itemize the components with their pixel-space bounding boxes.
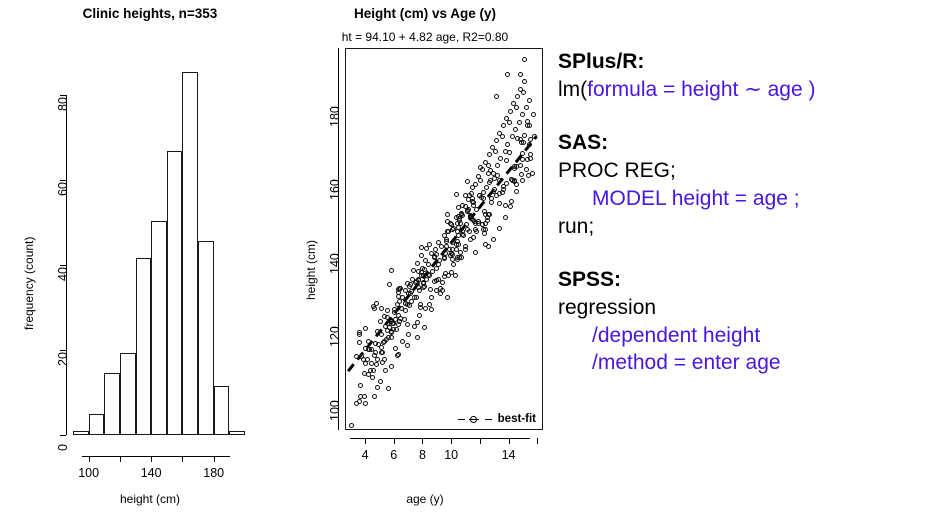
code-keyword-text: /dependent height [592,324,760,347]
histogram-y-tick [60,95,66,96]
scatter-title: Height (cm) vs Age (y) [290,6,560,21]
scatter-point [489,196,494,201]
scatter-x-tick-label: 4 [351,448,379,462]
scatter-point [415,261,420,266]
scatter-point [500,134,505,139]
scatter-x-tick [480,438,481,444]
scatter-point [493,149,498,154]
scatter-point [423,306,428,311]
scatter-point [494,138,499,143]
scatter-y-tick-label: 160 [328,179,342,200]
scatter-point [371,368,376,373]
best-fit-legend-label: best-fit [498,413,536,425]
scatter-point [419,253,424,258]
histogram-x-tick [151,456,152,462]
scatter-y-tick-label: 120 [328,326,342,347]
scatter-point [527,98,532,103]
scatter-point [508,109,513,114]
scatter-point [445,295,450,300]
scatter-point [504,181,509,186]
scatter-x-tick [394,438,395,444]
scatter-point [439,244,444,249]
code-line: MODEL height = age ; [558,185,939,213]
histogram-x-tick [214,456,215,462]
scatter-point [525,157,530,162]
scatter-point [429,295,434,300]
scatter-point [512,166,517,171]
scatter-point [349,423,354,428]
scatter-panel: Height (cm) vs Age (y) ht = 94.10 + 4.82… [290,0,560,520]
scatter-point [520,112,525,117]
scatter-point [372,394,377,399]
histogram-bar [104,373,120,435]
scatter-x-tick [365,438,366,444]
scatter-point [524,105,529,110]
scatter-point [422,267,427,272]
scatter-point [487,180,492,185]
histogram-x-axis-label: height (cm) [0,492,300,506]
scatter-point [510,134,515,139]
scatter-point [497,201,502,206]
scatter-point [528,137,533,142]
scatter-point [414,295,419,300]
histogram-y-tick-label: 20 [56,352,70,366]
scatter-point [508,204,513,209]
scatter-point [406,332,411,337]
code-plain-text: PROC REG; [558,159,676,182]
scatter-point [514,189,519,194]
scatter-point [463,244,468,249]
scatter-x-axis-line [350,438,530,439]
scatter-point [442,255,447,260]
scatter-point [363,361,368,366]
histogram-x-tick [120,456,121,462]
scatter-point [520,178,525,183]
code-plain-text: lm( [558,78,587,101]
scatter-point [514,182,519,187]
scatter-point [366,339,371,344]
scatter-point [363,346,368,351]
code-keyword-text: formula = height ∼ age ) [587,78,815,101]
histogram-bar [198,241,214,435]
scatter-x-tick [422,438,423,444]
scatter-point [374,301,379,306]
code-plain-text: regression [558,296,656,319]
histogram-bar [167,151,183,435]
scatter-point [408,282,413,287]
scatter-point [372,306,377,311]
scatter-point [471,235,476,240]
histogram-bar [151,221,167,435]
scatter-point [415,335,420,340]
scatter-point [412,324,417,329]
scatter-point [389,330,394,335]
histogram-x-tick [182,456,183,462]
scatter-point [448,221,453,226]
scatter-point [503,215,508,220]
scatter-point [403,301,408,306]
scatter-plot-area: best-fit [345,48,543,430]
histogram-bar [73,431,89,435]
scatter-point [509,177,514,182]
code-block-heading: SPSS: [558,266,939,294]
scatter-point [507,120,512,125]
histogram-y-tick-label: 40 [56,267,70,281]
scatter-point [434,278,439,283]
code-block-spacer [558,103,939,129]
scatter-point [481,227,486,232]
histogram-bar [89,414,105,435]
histogram-x-tick-label: 180 [200,466,228,480]
scatter-point [403,308,408,313]
scatter-point [354,401,359,406]
histogram-y-axis-label: frequency (count) [22,237,36,330]
scatter-point [358,383,363,388]
scatter-point [460,213,465,218]
scatter-point [445,229,450,234]
scatter-x-tick-label: 6 [380,448,408,462]
histogram-x-axis-line [82,456,230,457]
histogram-title: Clinic heights, n=353 [0,6,300,21]
scatter-point [505,142,510,147]
code-plain-text: run; [558,215,594,238]
histogram-y-axis-line [66,95,67,435]
scatter-point [465,227,470,232]
histogram-x-tick [89,456,90,462]
histogram-y-tick [60,265,66,266]
scatter-point [396,352,401,357]
scatter-point [375,329,380,334]
scatter-point [513,127,518,132]
scatter-point [385,308,390,313]
histogram-bar [214,386,230,435]
scatter-point [488,168,493,173]
scatter-point [418,302,423,307]
scatter-point [398,316,403,321]
best-fit-legend-marker-icon [458,416,492,423]
code-line: regression [558,294,939,322]
code-keyword-text: MODEL height = age ; [592,187,800,210]
scatter-x-tick [509,438,510,444]
scatter-point [357,332,362,337]
scatter-point [463,193,468,198]
scatter-point [394,327,399,332]
scatter-point [379,332,384,337]
code-block-spacer [558,240,939,266]
scatter-point [379,306,384,311]
scatter-point [416,285,421,290]
scatter-point [450,247,455,252]
histogram-y-tick-label: 80 [56,97,70,111]
scatter-point [515,136,520,141]
histogram-y-tick [60,180,66,181]
histogram-x-tick-label: 140 [137,466,165,480]
scatter-point [524,167,529,172]
scatter-point [455,255,460,260]
histogram-y-tick-label: 60 [56,182,70,196]
scatter-point [460,232,465,237]
histogram-bar [120,353,136,435]
scatter-point [392,307,397,312]
code-line: run; [558,213,939,241]
scatter-point [391,321,396,326]
code-line: PROC REG; [558,157,939,185]
scatter-point [465,179,470,184]
scatter-point [491,237,496,242]
scatter-x-tick [451,438,452,444]
histogram-bar [182,72,198,435]
histogram-bar [229,431,245,435]
scatter-point [424,246,429,251]
histogram-y-tick [60,350,66,351]
regression-syntax-panel: SPlus/R:lm(formula = height ∼ age )SAS:P… [558,48,939,488]
scatter-x-tick-label: 10 [437,448,465,462]
scatter-point [465,209,470,214]
scatter-point [369,361,374,366]
scatter-point [378,379,383,384]
histogram-y-tick-label: 0 [56,444,70,451]
scatter-subtitle: ht = 94.10 + 4.82 age, R2=0.80 [290,30,560,44]
scatter-legend: best-fit [458,413,536,425]
histogram-x-tick-label: 100 [75,466,103,480]
scatter-x-tick [537,438,538,444]
scatter-point [397,286,402,291]
scatter-point [379,350,384,355]
code-line: lm(formula = height ∼ age ) [558,76,939,104]
scatter-point [497,226,502,231]
scatter-point [449,270,454,275]
histogram-y-tick [60,435,66,436]
scatter-x-tick-label: 14 [495,448,523,462]
scatter-point [426,262,431,267]
scatter-y-tick-label: 180 [328,106,342,127]
scatter-point [456,225,461,230]
code-block-heading: SAS: [558,129,939,157]
scatter-x-axis-label: age (y) [290,492,560,506]
histogram-bar [136,258,152,435]
scatter-point [469,191,474,196]
histogram-plot-area [73,56,245,435]
scatter-point [358,394,363,399]
scatter-y-tick-label: 100 [328,400,342,421]
scatter-y-axis-label: height (cm) [304,240,318,300]
scatter-point [422,325,427,330]
scatter-point [527,142,532,147]
scatter-point [387,282,392,287]
scatter-point [473,227,478,232]
code-line: /method = enter age [558,349,939,377]
code-line: /dependent height [558,322,939,350]
scatter-point [473,182,478,187]
code-block-heading: SPlus/R: [558,48,939,76]
scatter-x-tick-label: 8 [408,448,436,462]
scatter-y-tick-label: 140 [328,253,342,274]
code-keyword-text: /method = enter age [592,351,781,374]
scatter-point [514,105,519,110]
scatter-point [416,277,421,282]
scatter-point [453,273,458,278]
scatter-point [503,203,508,208]
histogram-panel: Clinic heights, n=353 806040200 10014018… [0,0,300,520]
scatter-point [517,120,522,125]
scatter-point [507,150,512,155]
scatter-point [381,340,386,345]
scatter-point [504,158,509,163]
scatter-point [459,255,464,260]
scatter-point [473,250,478,255]
